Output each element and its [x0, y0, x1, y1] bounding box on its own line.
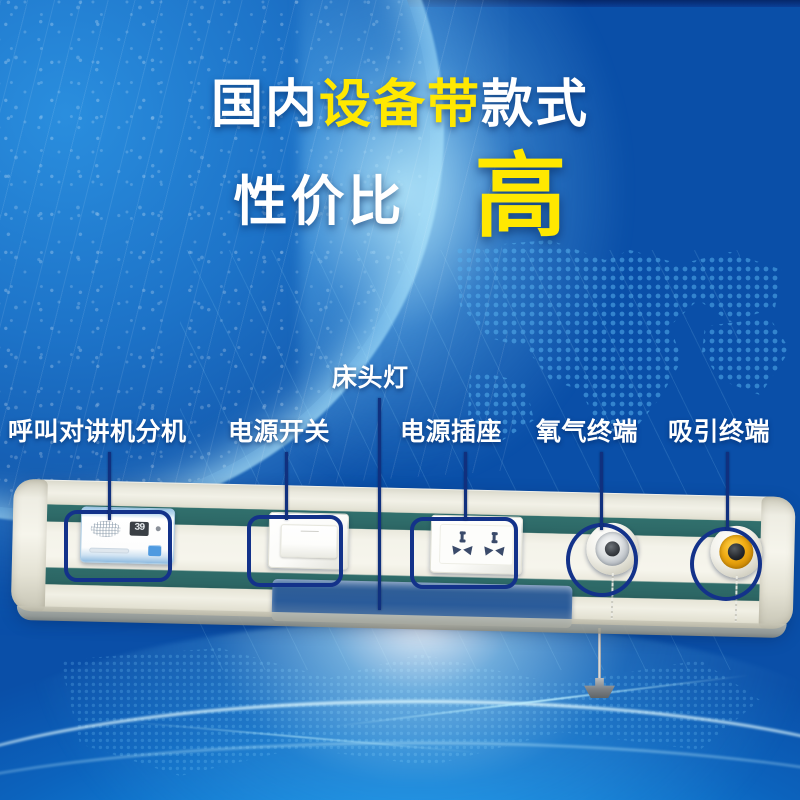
- callout-label-oxygen-terminal: 氧气终端: [536, 412, 638, 448]
- leader-line-suction-terminal: [726, 452, 729, 530]
- leader-line-bed-lamp: [378, 398, 381, 610]
- product-banner: 国内设备带款式 性价比 高 呼叫对讲机分机 电源开关 床头灯 电源插座 氧气终端…: [0, 0, 800, 800]
- callout-label-suction-terminal: 吸引终端: [668, 412, 770, 448]
- leader-line-oxygen-terminal: [600, 452, 603, 530]
- leader-line-power-socket: [464, 452, 467, 520]
- callout-label-bed-lamp: 床头灯: [332, 358, 409, 394]
- callout-label-nurse-call-intercom: 呼叫对讲机分机: [8, 412, 187, 448]
- leader-line-power-switch: [285, 452, 288, 520]
- callout-label-power-socket: 电源插座: [400, 412, 502, 448]
- callout-layer: 呼叫对讲机分机 电源开关 床头灯 电源插座 氧气终端 吸引终端: [0, 0, 800, 800]
- callout-label-power-switch: 电源开关: [228, 412, 330, 448]
- leader-line-nurse-call-intercom: [108, 452, 111, 520]
